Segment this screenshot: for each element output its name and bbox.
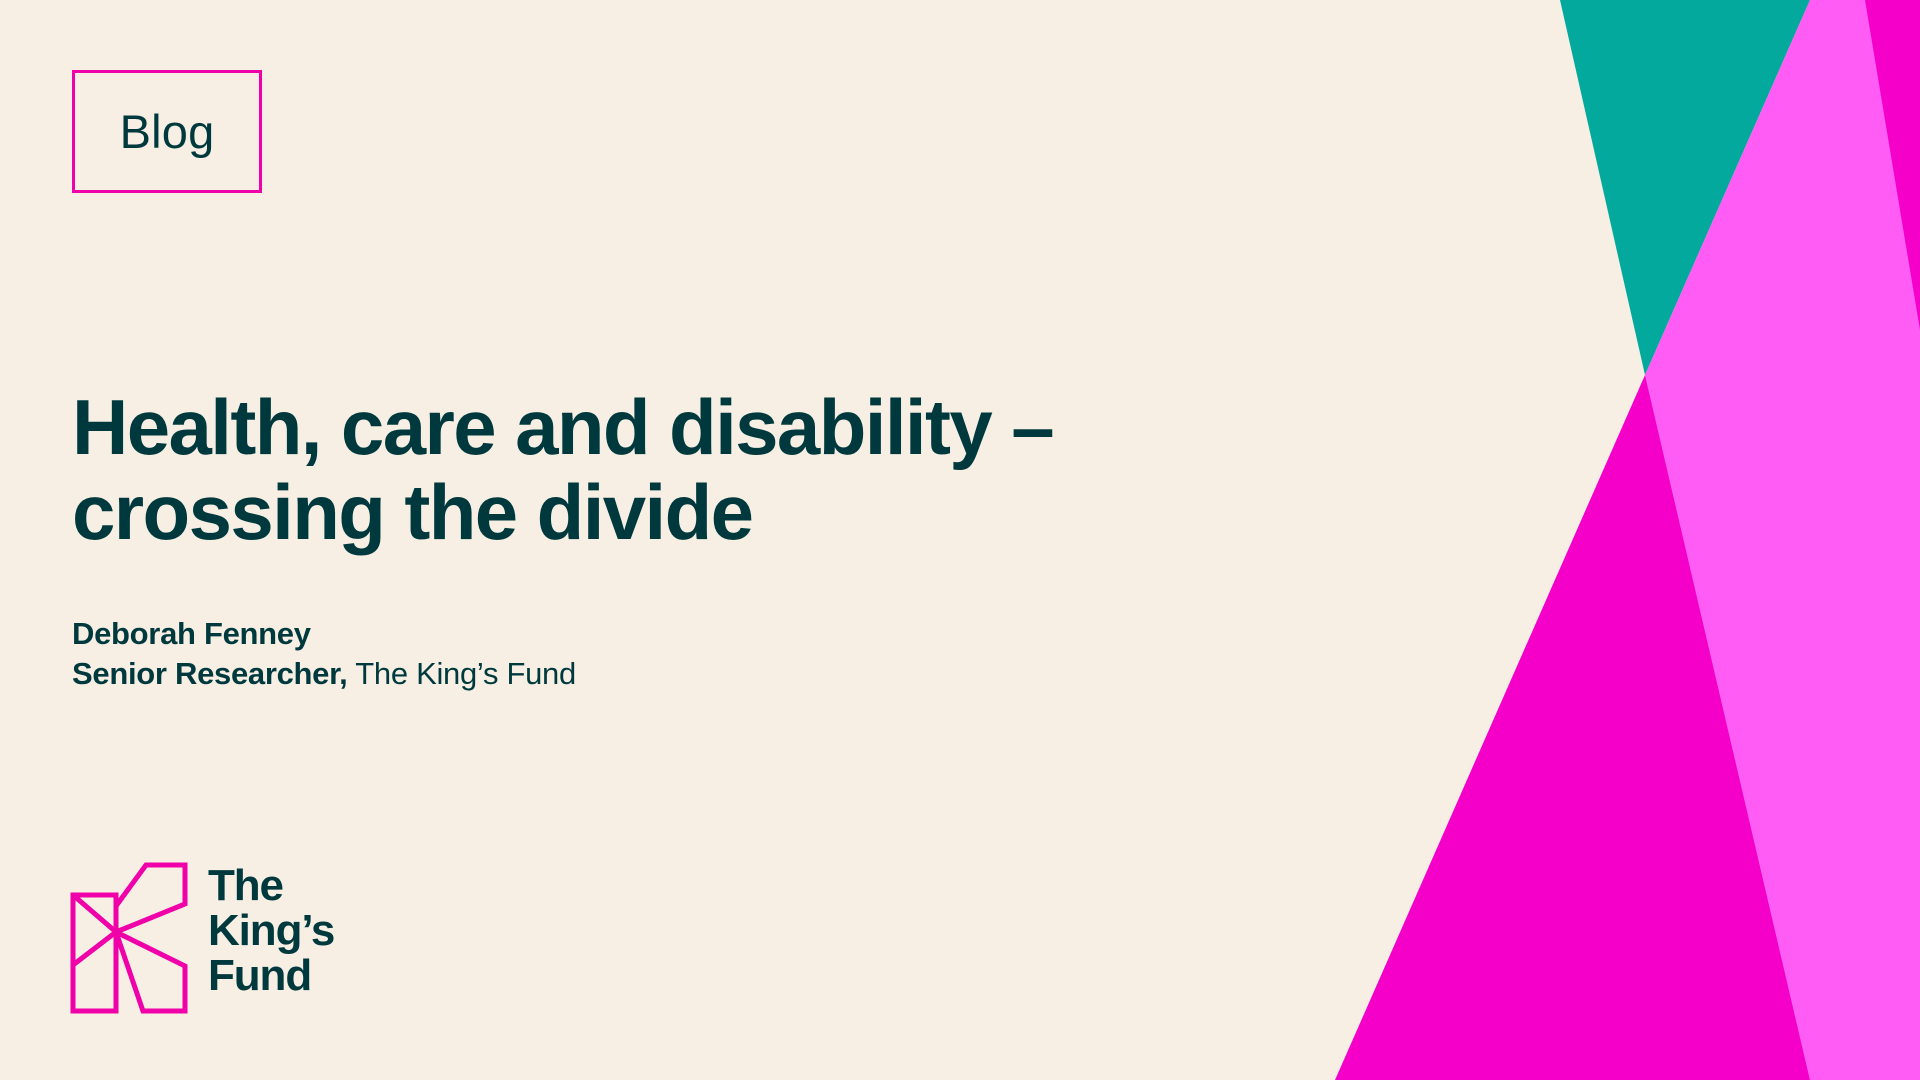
kings-fund-wordmark: The King’s Fund — [208, 862, 334, 999]
author-role: Senior Researcher, — [72, 656, 347, 691]
blog-badge-label: Blog — [120, 108, 215, 155]
light-pink-wedge-shape — [1645, 0, 1920, 1080]
author-role-line: Senior Researcher, The King’s Fund — [72, 654, 576, 694]
author-organisation: The King’s Fund — [347, 656, 575, 691]
byline: Deborah Fenney Senior Researcher, The Ki… — [72, 614, 576, 695]
kings-fund-k-mark-icon — [70, 862, 188, 1014]
blog-badge[interactable]: Blog — [72, 70, 262, 193]
kings-fund-logo[interactable]: The King’s Fund — [70, 862, 334, 1014]
author-name: Deborah Fenney — [72, 614, 576, 654]
magenta-corner-wedge-shape — [1865, 0, 1920, 330]
blog-promo-card: Blog Health, care and disability – cross… — [0, 0, 1920, 1080]
teal-wedge-shape — [1560, 0, 1810, 375]
page-title: Health, care and disability – crossing t… — [72, 385, 1232, 555]
bright-magenta-wedge-shape — [1335, 375, 1810, 1080]
